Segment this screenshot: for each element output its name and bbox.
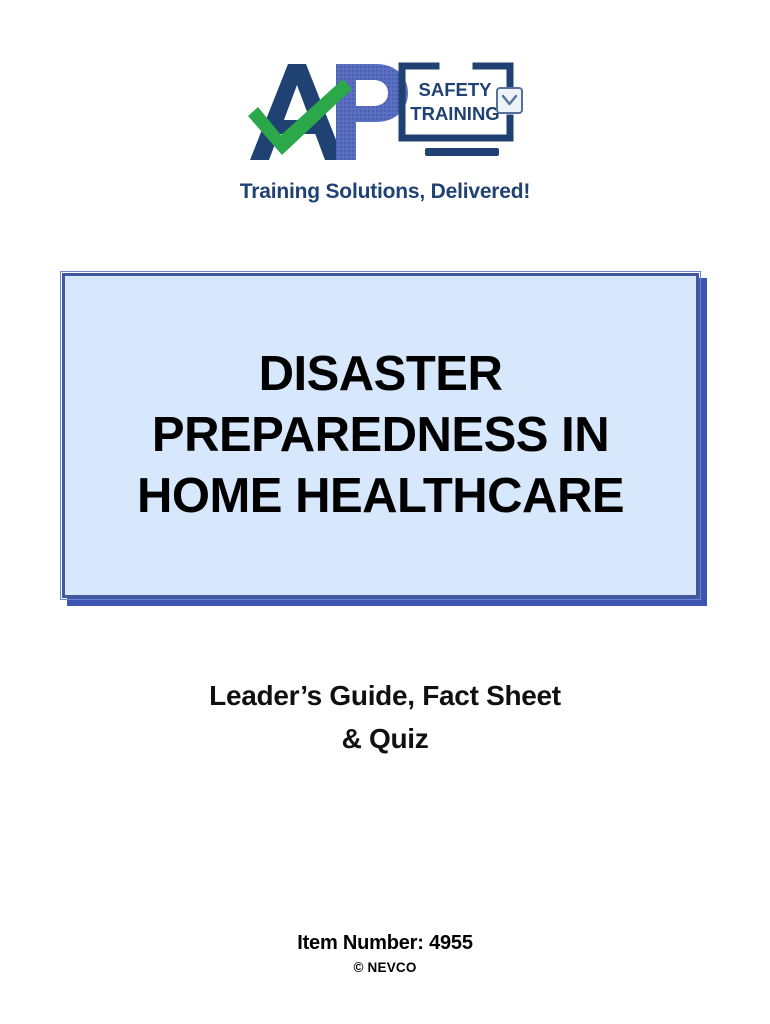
letter-a-glyph [250, 64, 344, 160]
ap-lettermark-icon [240, 58, 415, 166]
title-box: DISASTER PREPAREDNESS IN HOME HEALTHCARE [62, 273, 699, 598]
document-page: SAFETY TRAINING Training Solutions, Deli… [0, 0, 770, 1024]
page-title: DISASTER PREPAREDNESS IN HOME HEALTHCARE [131, 344, 630, 526]
page-footer: Item Number: 4955 © NEVCO [0, 931, 770, 977]
monitor-line2-text: TRAINING [410, 103, 499, 124]
copyright-notice: © NEVCO [0, 959, 770, 977]
logo-mark: SAFETY TRAINING [240, 58, 530, 166]
logo-tagline: Training Solutions, Delivered! [240, 180, 530, 204]
computer-monitor-icon: SAFETY TRAINING [398, 62, 530, 165]
checkbox-box [497, 88, 522, 113]
page-subtitle: Leader’s Guide, Fact Sheet & Quiz [0, 675, 770, 760]
brand-logo: SAFETY TRAINING Training Solutions, Deli… [0, 58, 770, 204]
monitor-line1-text: SAFETY [419, 79, 493, 100]
monitor-frame [402, 66, 510, 138]
item-number: Item Number: 4955 [0, 931, 770, 956]
monitor-stand [425, 148, 499, 156]
